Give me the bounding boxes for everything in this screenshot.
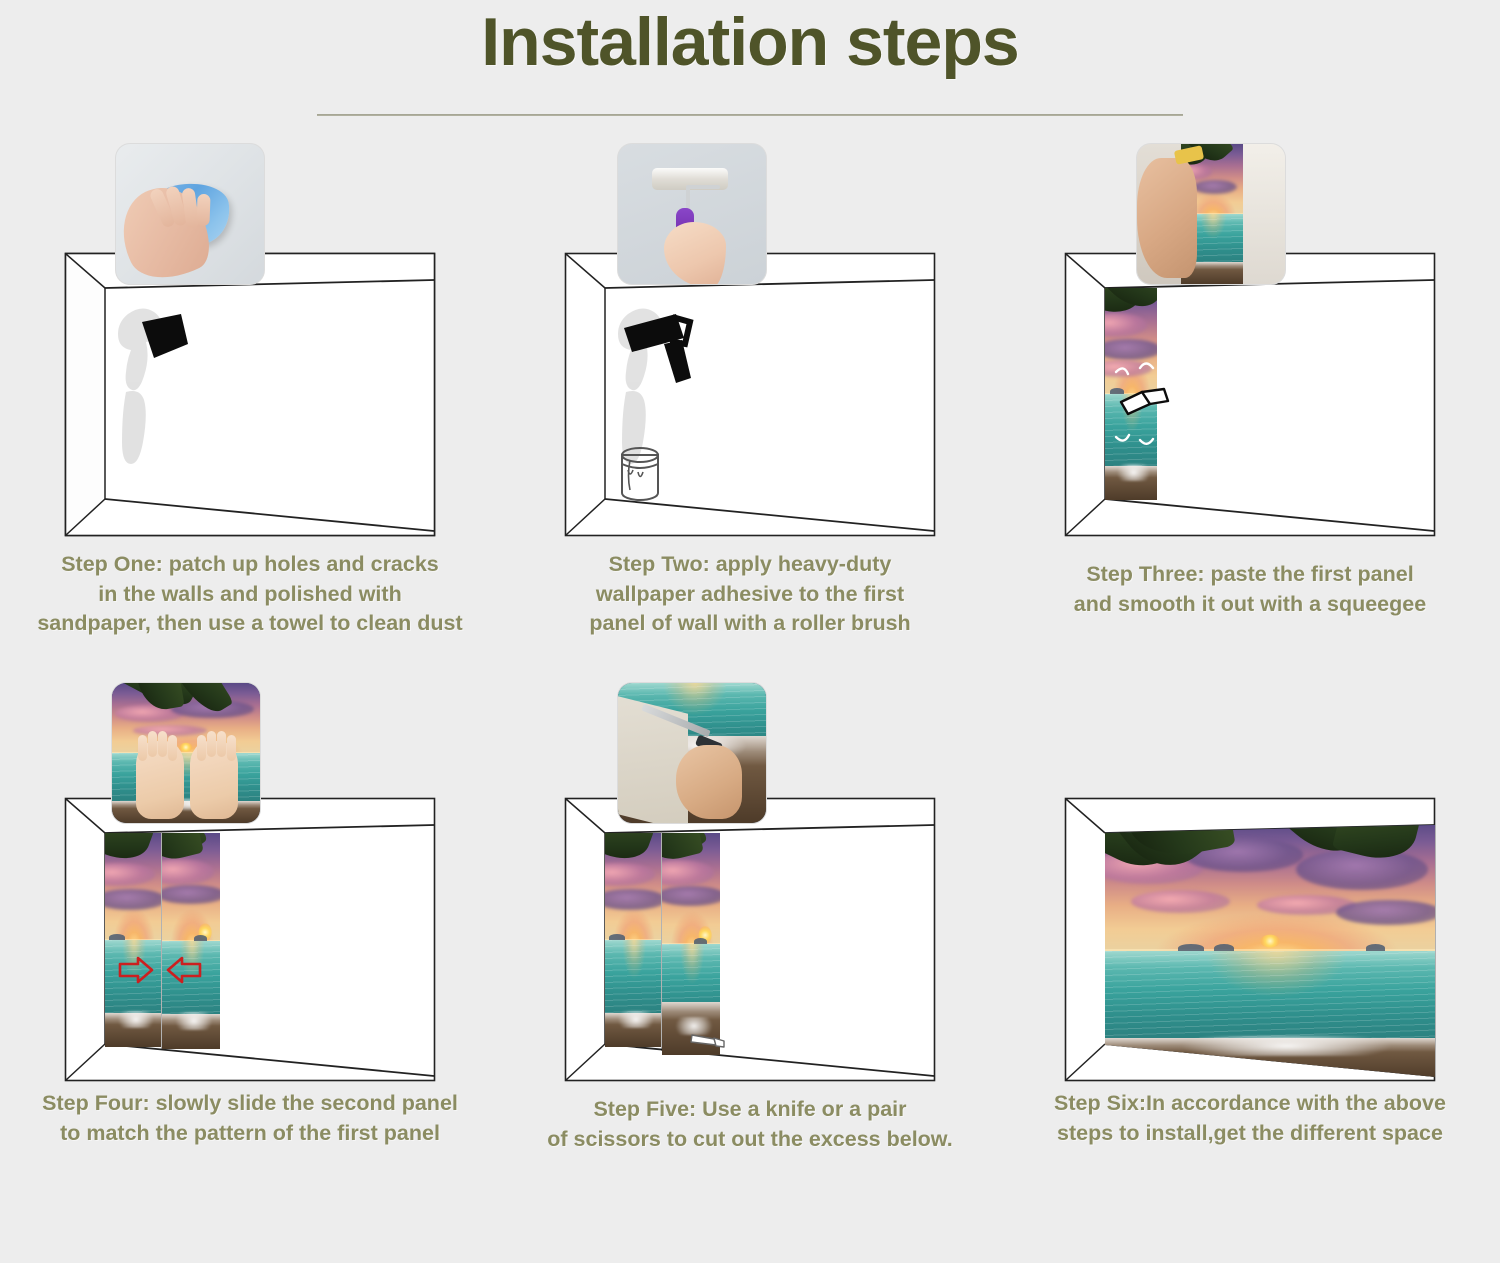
paste-photo-scene (1137, 144, 1285, 284)
finger (196, 194, 210, 226)
finger (158, 731, 167, 757)
page-title: Installation steps (0, 0, 1500, 76)
knife-cutting-photo (618, 683, 766, 823)
step-caption-three: Step Three: paste the first panel and sm… (1000, 560, 1500, 619)
cloth-photo-scene (116, 144, 264, 284)
finger (227, 735, 236, 761)
roller-frame (686, 185, 720, 189)
finger (138, 735, 147, 761)
two-hands-smoothing-photo (112, 683, 260, 823)
room-illustration-two (564, 252, 936, 537)
squeegee-overlay (1064, 252, 1436, 537)
step-caption-five: Step Five: Use a knife or a pair of scis… (500, 1095, 1000, 1154)
step-caption-one: Step One: patch up holes and cracks in t… (0, 550, 500, 639)
step-caption-two: Step Two: apply heavy-duty wallpaper adh… (500, 550, 1000, 639)
finger (197, 735, 206, 761)
arm-shape (1137, 158, 1197, 278)
finger (168, 735, 177, 761)
squeegee-icon (1121, 389, 1168, 414)
hands-photo-scene (112, 683, 260, 823)
step-cell-two: Step Two: apply heavy-duty wallpaper adh… (500, 134, 1000, 679)
step-cell-five: Step Five: Use a knife or a pair of scis… (500, 679, 1000, 1224)
cloud (1131, 890, 1230, 913)
wall-right (1243, 144, 1285, 284)
finger (217, 731, 226, 757)
hand-shape (676, 745, 742, 819)
room-illustration-four (64, 797, 436, 1082)
step-cell-one: Step One: patch up holes and cracks in t… (0, 134, 500, 679)
hand-shape (664, 222, 726, 284)
finger (148, 731, 157, 757)
room-svg (64, 252, 436, 537)
paint-roller-photo (618, 144, 766, 284)
cut-photo-scene (618, 683, 766, 823)
room-illustration-one (64, 252, 436, 537)
room-illustration-five (564, 797, 936, 1082)
step-caption-four: Step Four: slowly slide the second panel… (0, 1089, 500, 1148)
steps-grid: Step One: patch up holes and cracks in t… (0, 134, 1500, 1224)
knife-icon (564, 797, 936, 1082)
step-caption-six: Step Six:In accordance with the above st… (1000, 1089, 1500, 1148)
pasting-panel-photo (1137, 144, 1285, 284)
mural-panel-full (1105, 823, 1435, 1079)
wave-lines (1105, 951, 1435, 1043)
room-svg (564, 252, 936, 537)
title-divider (317, 114, 1183, 116)
finger (207, 731, 216, 757)
step-cell-three: Step Three: paste the first panel and sm… (1000, 134, 1500, 679)
hand-with-cloth-photo (116, 144, 264, 284)
room-illustration-six (1064, 797, 1436, 1082)
roller-photo-scene (618, 144, 766, 284)
room-illustration-three (1064, 252, 1436, 537)
step-cell-four: Step Four: slowly slide the second panel… (0, 679, 500, 1224)
sun (1260, 934, 1280, 947)
beach-mural (1105, 823, 1435, 1079)
matching-arrows-icon (64, 797, 436, 1082)
step-cell-six: Step Six:In accordance with the above st… (1000, 679, 1500, 1224)
